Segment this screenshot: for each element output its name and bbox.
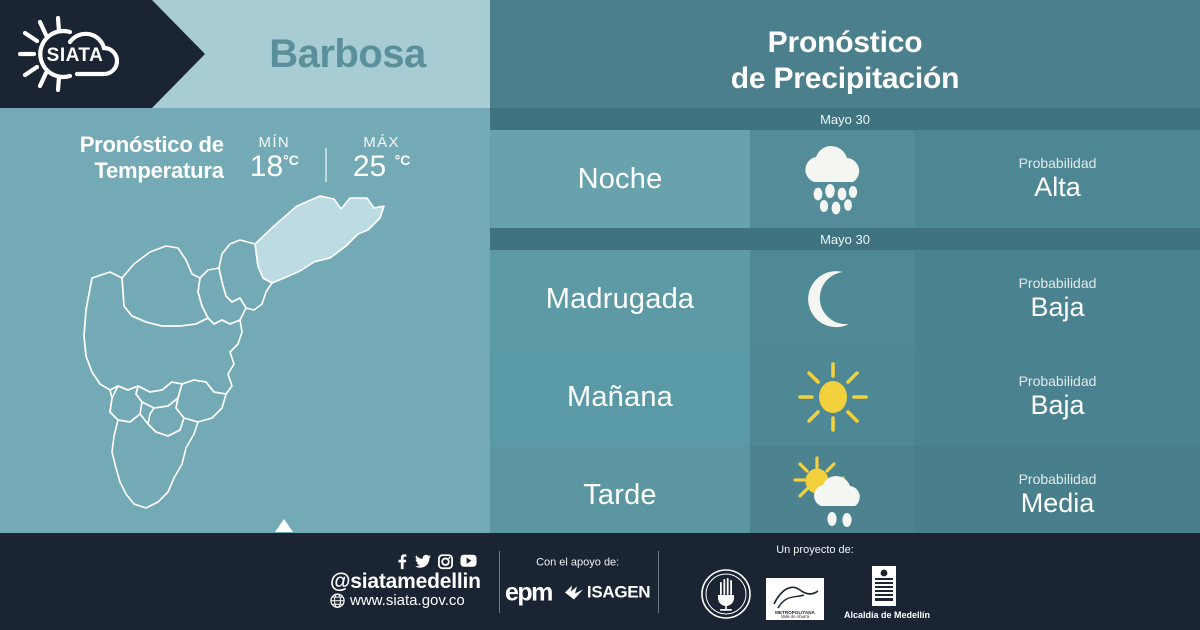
temperature-map-panel: Pronóstico de Temperatura MÍN 18°C MÁX 2… bbox=[0, 108, 490, 533]
probability-label: Probabilidad bbox=[1019, 155, 1097, 171]
map-region-caldas bbox=[112, 414, 198, 508]
map-region-barbosa bbox=[255, 196, 384, 283]
temperature-title: Pronóstico de Temperatura bbox=[80, 132, 224, 184]
crescent-moon-icon bbox=[750, 250, 915, 348]
date-bar-2: Mayo 30 bbox=[490, 228, 1200, 250]
twitter-icon[interactable] bbox=[415, 554, 431, 569]
map-region-copacabana bbox=[198, 268, 246, 324]
temperature-block: Pronóstico de Temperatura MÍN 18°C MÁX 2… bbox=[0, 122, 490, 194]
temperature-title-line1: Pronóstico de bbox=[80, 132, 224, 158]
precipitation-title-line2: de Precipitación bbox=[731, 61, 960, 97]
probability-value: Alta bbox=[1034, 172, 1081, 203]
forecast-probability: Probabilidad Alta bbox=[915, 130, 1200, 228]
temperature-title-line2: Temperatura bbox=[80, 158, 224, 184]
forecast-period-label: Tarde bbox=[490, 446, 750, 544]
alcaldia-logo-stack: Alcaldía de Medellín bbox=[838, 566, 930, 620]
forecast-row-noche[interactable]: Noche Probabilidad bbox=[490, 130, 1200, 228]
footer-divider-1 bbox=[499, 551, 500, 613]
probability-label: Probabilidad bbox=[1019, 275, 1097, 291]
website-url: www.siata.gov.co bbox=[350, 593, 465, 610]
youtube-icon[interactable] bbox=[460, 554, 477, 567]
project-caption: Un proyecto de: bbox=[700, 544, 930, 556]
max-unit: °C bbox=[395, 152, 411, 168]
map-region-medellin bbox=[84, 272, 242, 394]
footer-social-block: @siatamedellin www.siata.gov.co bbox=[330, 554, 481, 610]
project-block: Un proyecto de: bbox=[700, 544, 930, 620]
probability-value: Baja bbox=[1030, 390, 1084, 421]
sun-rain-cloud-icon bbox=[750, 446, 915, 544]
forecast-probability: Probabilidad Baja bbox=[915, 250, 1200, 348]
forecast-probability: Probabilidad Baja bbox=[915, 348, 1200, 446]
social-handle[interactable]: @siatamedellin bbox=[330, 571, 481, 593]
max-label: MÁX bbox=[353, 134, 410, 151]
support-caption: Con el apoyo de: bbox=[505, 556, 650, 568]
area-metropolitana-seal-icon bbox=[700, 568, 752, 620]
project-logo-row: METROPOLITANA Valle de Aburrá bbox=[700, 566, 930, 620]
map-region-itagui bbox=[136, 382, 182, 408]
min-value-wrap: 18°C bbox=[250, 151, 299, 183]
forecast-row-tarde[interactable]: Tarde Pro bbox=[490, 446, 1200, 544]
amva-logo-stack: METROPOLITANA Valle de Aburrá bbox=[766, 578, 824, 620]
instagram-icon[interactable] bbox=[438, 554, 453, 569]
map-region-envigado bbox=[176, 380, 226, 422]
infographic-root: SIATA Barbosa Pronóstico de Temperatura … bbox=[0, 0, 1200, 630]
map-svg bbox=[62, 186, 432, 536]
sun-cloud-icon: SIATA bbox=[18, 16, 136, 92]
max-temperature: MÁX 25 °C bbox=[353, 134, 410, 183]
forecast-period-label: Mañana bbox=[490, 348, 750, 446]
min-temperature: MÍN 18°C bbox=[250, 134, 299, 183]
forecast-row-manana[interactable]: Mañana Probabili bbox=[490, 348, 1200, 446]
support-block: Con el apoyo de: epm ISAGEN bbox=[505, 556, 650, 607]
probability-value: Baja bbox=[1030, 292, 1084, 323]
max-value: 25 bbox=[353, 150, 386, 183]
max-value-wrap: 25 °C bbox=[353, 151, 410, 183]
city-name: Barbosa bbox=[205, 0, 490, 108]
temperature-divider bbox=[325, 148, 327, 182]
website-line[interactable]: www.siata.gov.co bbox=[330, 593, 481, 610]
facebook-icon[interactable] bbox=[395, 554, 408, 569]
alcaldia-label: Alcaldía de Medellín bbox=[844, 610, 930, 620]
map-region-north-outline bbox=[84, 278, 118, 420]
footer: @siatamedellin www.siata.gov.co Con el a… bbox=[0, 533, 1200, 630]
social-icon-row bbox=[330, 554, 481, 569]
amva-logo-icon: METROPOLITANA Valle de Aburrá bbox=[766, 578, 824, 620]
probability-value: Media bbox=[1021, 488, 1095, 519]
probability-label: Probabilidad bbox=[1019, 373, 1097, 389]
city-header: SIATA Barbosa bbox=[0, 0, 490, 108]
isagen-mark-icon bbox=[564, 584, 584, 602]
forecast-row-madrugada[interactable]: Madrugada Probabilidad Baja bbox=[490, 250, 1200, 348]
min-unit: °C bbox=[283, 152, 299, 168]
globe-icon bbox=[330, 594, 345, 609]
precipitation-column: Pronóstico de Precipitación Mayo 30 Noch… bbox=[490, 0, 1200, 533]
footer-divider-2 bbox=[658, 551, 659, 613]
epm-logo: epm bbox=[505, 578, 552, 607]
probability-label: Probabilidad bbox=[1019, 471, 1097, 487]
forecast-period-label: Noche bbox=[490, 130, 750, 228]
forecast-probability: Probabilidad Media bbox=[915, 446, 1200, 544]
alcaldia-shield-icon bbox=[870, 566, 898, 610]
left-column: SIATA Barbosa Pronóstico de Temperatura … bbox=[0, 0, 490, 533]
min-label: MÍN bbox=[250, 134, 299, 151]
siata-logo-badge: SIATA bbox=[0, 0, 205, 108]
isagen-logo: ISAGEN bbox=[564, 583, 650, 603]
isagen-wordmark: ISAGEN bbox=[587, 583, 650, 603]
municipalities-map: N bbox=[0, 186, 490, 533]
sun-icon bbox=[750, 348, 915, 446]
rain-cloud-icon bbox=[750, 130, 915, 228]
precipitation-title-line1: Pronóstico bbox=[768, 25, 923, 61]
map-region-bello bbox=[122, 246, 208, 326]
min-value: 18 bbox=[250, 150, 283, 183]
precipitation-title: Pronóstico de Precipitación bbox=[490, 14, 1200, 108]
forecast-period-label: Madrugada bbox=[490, 250, 750, 348]
svg-text:SIATA: SIATA bbox=[47, 45, 104, 66]
svg-text:Valle de Aburrá: Valle de Aburrá bbox=[781, 614, 810, 619]
support-logo-row: epm ISAGEN bbox=[505, 578, 650, 607]
date-bar-1: Mayo 30 bbox=[490, 108, 1200, 130]
